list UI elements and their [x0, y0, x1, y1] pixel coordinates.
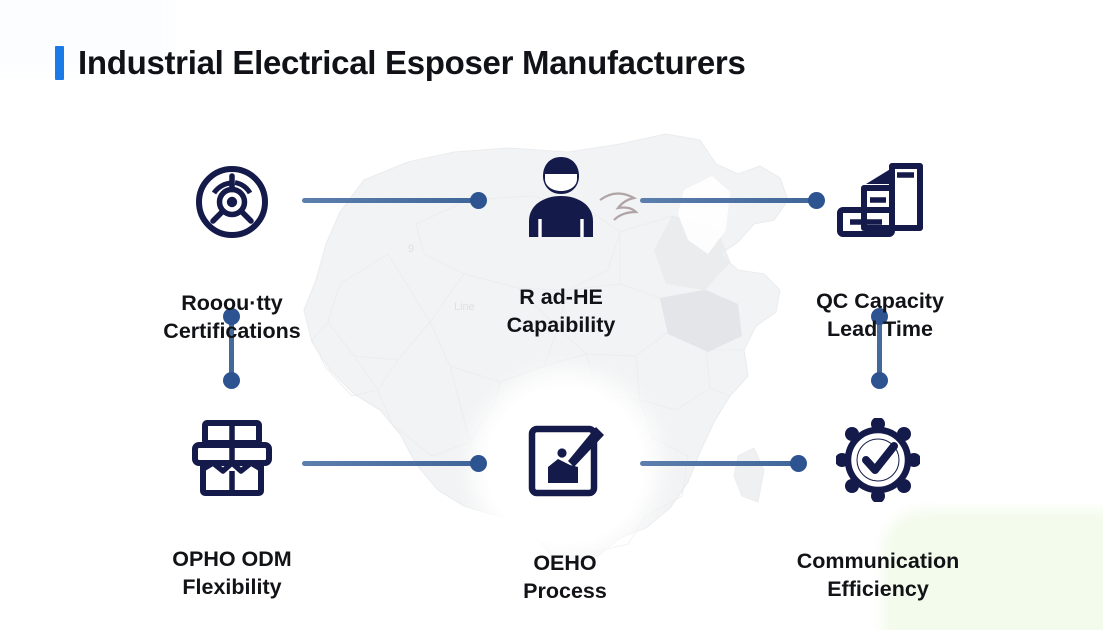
svg-text:9: 9: [408, 243, 414, 255]
node-quality-certifications[interactable]: Rooou·tty Certifications: [117, 152, 347, 374]
node-qc-capacity-lead-time[interactable]: QC Capacity Lead Time: [765, 150, 995, 372]
node-oem-process[interactable]: OEHO Process: [450, 412, 680, 630]
node-rnd-capability[interactable]: R ad-HE Capaibility: [446, 146, 676, 368]
node-label-line2: Process: [450, 577, 680, 606]
node-label: OEHO Process: [450, 520, 680, 630]
node-label: OPHO ODM Flexibility: [117, 516, 347, 630]
title-accent-bar: [55, 46, 64, 80]
node-label-line2: Capaibility: [446, 311, 676, 340]
slide-canvas: Line FD 9 Industrial Electrical Esposer …: [0, 0, 1103, 630]
certification-seal-icon: [117, 152, 347, 252]
node-label: R ad-HE Capaibility: [446, 254, 676, 368]
slide-title: Industrial Electrical Esposer Manufactur…: [55, 44, 746, 82]
design-pen-square-icon: [450, 412, 680, 512]
node-label-line1: QC Capacity: [816, 289, 944, 313]
node-label: Communication Efficiency: [763, 518, 993, 630]
storefront-icon: [117, 408, 347, 508]
node-label-line1: OEHO: [533, 551, 596, 575]
node-label-line1: R ad-HE: [519, 285, 603, 309]
connector-dot-left-lower: [223, 372, 240, 389]
node-label-line1: Rooou·tty: [181, 291, 283, 315]
node-label: QC Capacity Lead Time: [765, 258, 995, 372]
node-communication-efficiency[interactable]: Communication Efficiency: [763, 410, 993, 630]
connector-dot-right-lower: [871, 372, 888, 389]
page-title: Industrial Electrical Esposer Manufactur…: [78, 44, 746, 82]
node-label-line2: Flexibility: [117, 573, 347, 602]
node-label-line1: Communication: [797, 549, 959, 573]
node-label-line1: OPHO ODM: [172, 547, 291, 571]
node-label-line2: Efficiency: [763, 575, 993, 604]
node-label: Rooou·tty Certifications: [117, 260, 347, 374]
factory-building-icon: [765, 150, 995, 250]
node-oem-odm-flexibility[interactable]: OPHO ODM Flexibility: [117, 408, 347, 630]
node-label-line2: Lead Time: [765, 315, 995, 344]
node-label-line2: Certifications: [117, 317, 347, 346]
gear-check-icon: [763, 410, 993, 510]
worker-person-icon: [446, 146, 676, 246]
